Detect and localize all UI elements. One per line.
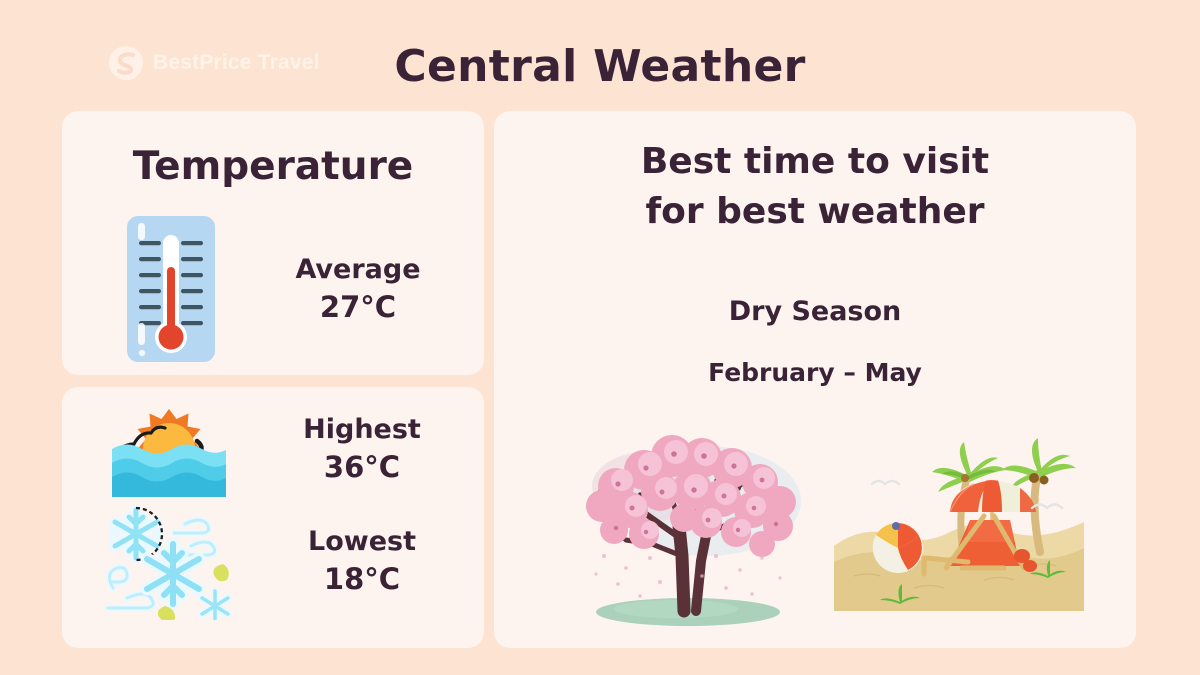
lowest-label: Lowest: [258, 524, 466, 560]
extremes-card: Highest 36°C: [62, 387, 484, 648]
highest-readout: Highest 36°C: [258, 412, 466, 486]
cherry-blossom-tree-photo: [556, 406, 821, 636]
temperature-average-row: Average 27°C: [86, 215, 460, 363]
temperature-heading: Temperature: [62, 144, 484, 189]
best-time-card: Best time to visit for best weather Dry …: [494, 111, 1136, 648]
lowest-row: Lowest 18°C: [80, 507, 466, 615]
best-time-title-line1: Best time to visit: [534, 137, 1096, 187]
dry-season-label: Dry Season: [494, 296, 1136, 327]
average-value: 27°C: [256, 288, 460, 326]
best-time-title-line2: for best weather: [534, 187, 1096, 237]
infographic-root: BestPrice Travel Central Weather Tempera…: [0, 0, 1200, 675]
months-range-label: February – May: [494, 358, 1136, 387]
lowest-value: 18°C: [258, 560, 466, 598]
thermometer-icon: [86, 215, 256, 363]
average-label: Average: [256, 252, 460, 288]
sun-over-water-icon: [80, 397, 258, 501]
lowest-readout: Lowest 18°C: [258, 524, 466, 598]
highest-label: Highest: [258, 412, 466, 448]
highest-row: Highest 36°C: [80, 395, 466, 503]
best-time-title: Best time to visit for best weather: [534, 137, 1096, 236]
page-title: Central Weather: [0, 41, 1200, 92]
beach-umbrella-palm-photo: [834, 416, 1084, 611]
snowflake-wind-icon: [80, 502, 258, 620]
temperature-card: Temperature: [62, 111, 484, 375]
average-readout: Average 27°C: [256, 252, 460, 326]
highest-value: 36°C: [258, 448, 466, 486]
